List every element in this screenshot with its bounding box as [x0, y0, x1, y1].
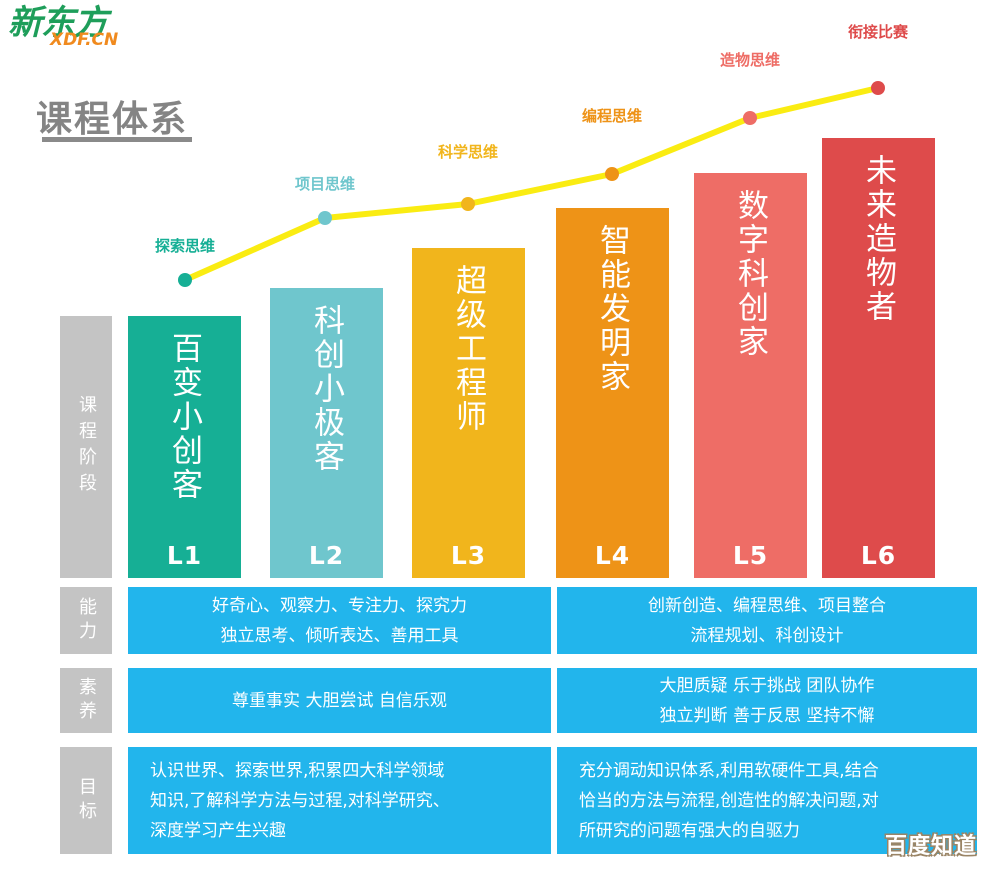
bar-l1-level: L1	[128, 541, 241, 570]
bar-l3-name: 超级工程师	[446, 264, 491, 434]
table-row: 能力 好奇心、观察力、专注力、探究力 独立思考、倾听表达、善用工具 创新创造、编…	[60, 587, 977, 654]
point-label-l2: 项目思维	[290, 174, 360, 194]
bar-l5-name: 数字科创家	[728, 189, 773, 359]
bar-l4[interactable]: 智能发明家 L4	[556, 208, 669, 578]
goal-basic-line-1: 认识世界、探索世界,积累四大科学领域	[128, 756, 444, 786]
stage-axis-label-text: 课程阶段	[73, 395, 99, 499]
point-label-l3: 科学思维	[433, 142, 503, 162]
bar-l4-level: L4	[556, 541, 669, 570]
point-label-l4-text: 编程思维	[577, 106, 647, 126]
bar-l5[interactable]: 数字科创家 L5	[694, 173, 807, 578]
bar-l6-level: L6	[822, 541, 935, 570]
point-label-l1: 探索思维	[150, 236, 220, 256]
ability-cell-advanced: 创新创造、编程思维、项目整合 流程规划、科创设计	[557, 587, 977, 654]
bar-l2[interactable]: 科创小极客 L2	[270, 288, 383, 578]
goal-advanced-line-2: 恰当的方法与流程,创造性的解决问题,对	[557, 786, 879, 816]
bar-l6[interactable]: 未来造物者 L6	[822, 138, 935, 578]
data-point-l3	[461, 197, 475, 211]
row-header-quality-text: 素养	[73, 677, 99, 725]
ability-basic-line-2: 独立思考、倾听表达、善用工具	[220, 621, 458, 651]
bar-l3-level: L3	[412, 541, 525, 570]
point-label-l5: 造物思维	[715, 50, 785, 70]
row-header-goal: 目标	[60, 747, 112, 854]
competency-table: 能力 好奇心、观察力、专注力、探究力 独立思考、倾听表达、善用工具 创新创造、编…	[60, 587, 977, 868]
row-header-ability-text: 能力	[73, 597, 99, 645]
ability-cell-basic: 好奇心、观察力、专注力、探究力 独立思考、倾听表达、善用工具	[128, 587, 551, 654]
bar-l6-name: 未来造物者	[856, 154, 901, 324]
bar-l4-name: 智能发明家	[590, 224, 635, 394]
goal-advanced-line-1: 充分调动知识体系,利用软硬件工具,结合	[557, 756, 879, 786]
row-header-ability: 能力	[60, 587, 112, 654]
quality-advanced-line-2: 独立判断 善于反思 坚持不懈	[660, 701, 875, 731]
course-level-chart: 探索思维 项目思维 科学思维 编程思维 造物思维 衔接比赛 课程阶段 百变小创客…	[0, 0, 985, 590]
ability-advanced-line-2: 流程规划、科创设计	[690, 621, 843, 651]
table-row: 目标 认识世界、探索世界,积累四大科学领域 知识,了解科学方法与过程,对科学研究…	[60, 747, 977, 854]
ability-basic-line-1: 好奇心、观察力、专注力、探究力	[212, 591, 467, 621]
bar-l2-level: L2	[270, 541, 383, 570]
ability-advanced-line-1: 创新创造、编程思维、项目整合	[648, 591, 886, 621]
goal-basic-line-3: 深度学习产生兴趣	[128, 816, 286, 846]
point-label-l6-text: 衔接比赛	[843, 22, 913, 42]
watermark: 百度知道	[885, 828, 977, 860]
bar-l1[interactable]: 百变小创客 L1	[128, 316, 241, 578]
row-header-quality: 素养	[60, 668, 112, 733]
data-point-l5	[743, 111, 757, 125]
stage-axis-label: 课程阶段	[60, 316, 112, 578]
quality-basic-line-1: 尊重事实 大胆尝试 自信乐观	[232, 686, 447, 716]
data-point-l2	[318, 211, 332, 225]
point-label-l4: 编程思维	[577, 106, 647, 126]
goal-cell-basic: 认识世界、探索世界,积累四大科学领域 知识,了解科学方法与过程,对科学研究、 深…	[128, 747, 551, 854]
data-point-l1	[178, 273, 192, 287]
table-row: 素养 尊重事实 大胆尝试 自信乐观 大胆质疑 乐于挑战 团队协作 独立判断 善于…	[60, 668, 977, 733]
point-label-l2-text: 项目思维	[290, 174, 360, 194]
quality-advanced-line-1: 大胆质疑 乐于挑战 团队协作	[660, 671, 875, 701]
bar-l1-name: 百变小创客	[162, 332, 207, 502]
quality-cell-basic: 尊重事实 大胆尝试 自信乐观	[128, 668, 551, 733]
point-label-l5-text: 造物思维	[715, 50, 785, 70]
row-header-goal-text: 目标	[73, 777, 99, 825]
bar-l2-name: 科创小极客	[304, 304, 349, 474]
point-label-l6: 衔接比赛	[843, 22, 913, 42]
goal-advanced-line-3: 所研究的问题有强大的自驱力	[557, 816, 800, 846]
quality-cell-advanced: 大胆质疑 乐于挑战 团队协作 独立判断 善于反思 坚持不懈	[557, 668, 977, 733]
point-label-l3-text: 科学思维	[433, 142, 503, 162]
bar-l3[interactable]: 超级工程师 L3	[412, 248, 525, 578]
data-point-l4	[605, 167, 619, 181]
point-label-l1-text: 探索思维	[150, 236, 220, 256]
bar-l5-level: L5	[694, 541, 807, 570]
goal-basic-line-2: 知识,了解科学方法与过程,对科学研究、	[128, 786, 450, 816]
data-point-l6	[871, 81, 885, 95]
